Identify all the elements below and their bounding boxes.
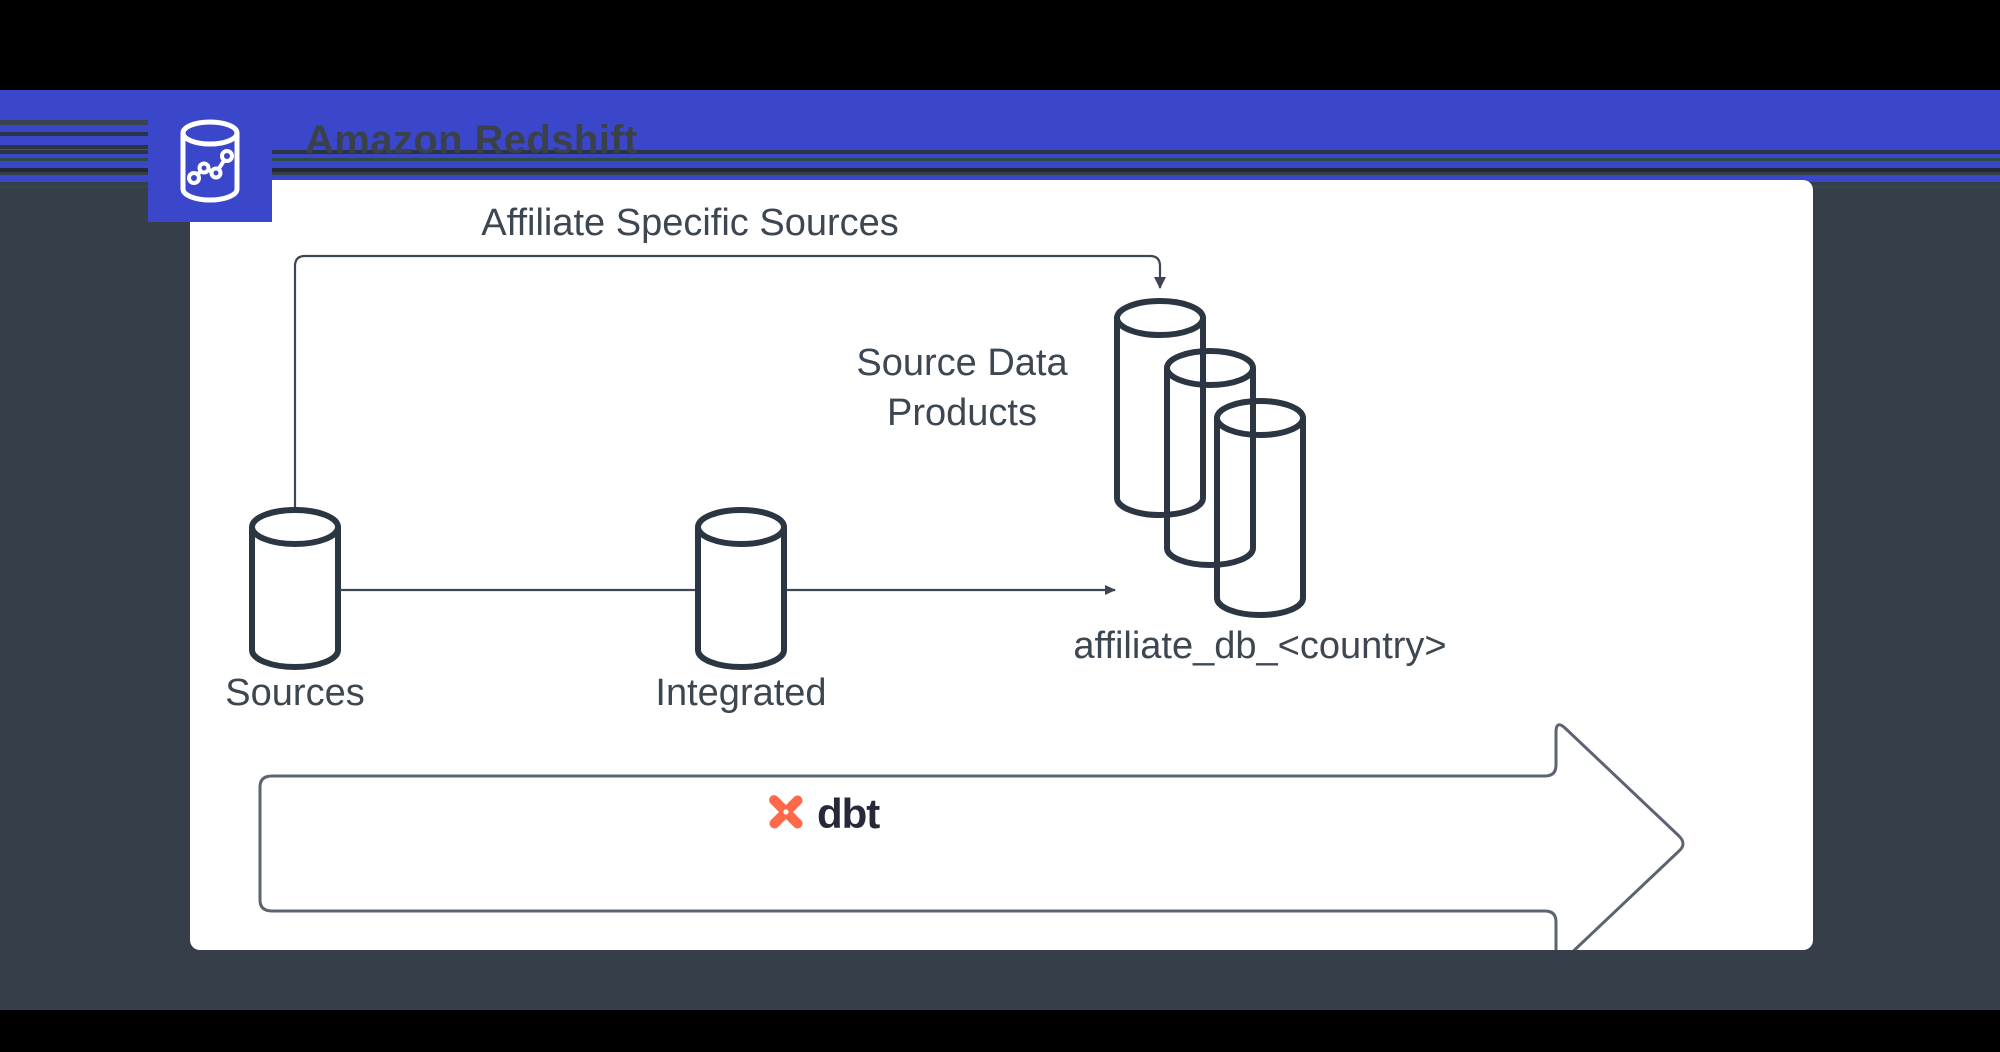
architecture-diagram: Affiliate Specific Sources Sources Integ…: [190, 180, 1813, 950]
blue-header-band: [0, 90, 2000, 168]
edge-label-source-data-products-line1: Source Data: [856, 342, 1068, 384]
node-label-affiliate-db: affiliate_db_<country>: [1073, 625, 1446, 667]
dbt-logo-text: dbt: [817, 793, 879, 835]
edge-label-source-data-products-line2: Products: [887, 392, 1037, 434]
top-black-bar: [0, 0, 2000, 90]
redshift-database-icon: [174, 118, 246, 204]
dbt-x-mark-icon: [764, 792, 808, 836]
diagram-card: Affiliate Specific Sources Sources Integ…: [190, 180, 1813, 950]
screenshot-root: Amazon Redshift Affiliate Specific Sourc…: [0, 0, 2000, 1052]
node-integrated: [698, 510, 784, 667]
node-sources: [252, 510, 338, 667]
artifact-stripe: [0, 168, 2000, 172]
node-label-integrated: Integrated: [655, 672, 826, 714]
artifact-stripe: [0, 150, 2000, 154]
node-label-sources: Sources: [225, 672, 364, 714]
dbt-process-arrow: [260, 725, 1683, 950]
page-title: Amazon Redshift: [305, 118, 638, 163]
edge-label-affiliate-specific-sources: Affiliate Specific Sources: [481, 202, 899, 244]
bottom-black-bar: [0, 1010, 2000, 1052]
redshift-icon-badge: [148, 100, 272, 222]
artifact-stripe: [0, 158, 2000, 161]
node-affiliate-db: [1117, 301, 1303, 615]
dbt-logo: dbt: [764, 792, 879, 836]
